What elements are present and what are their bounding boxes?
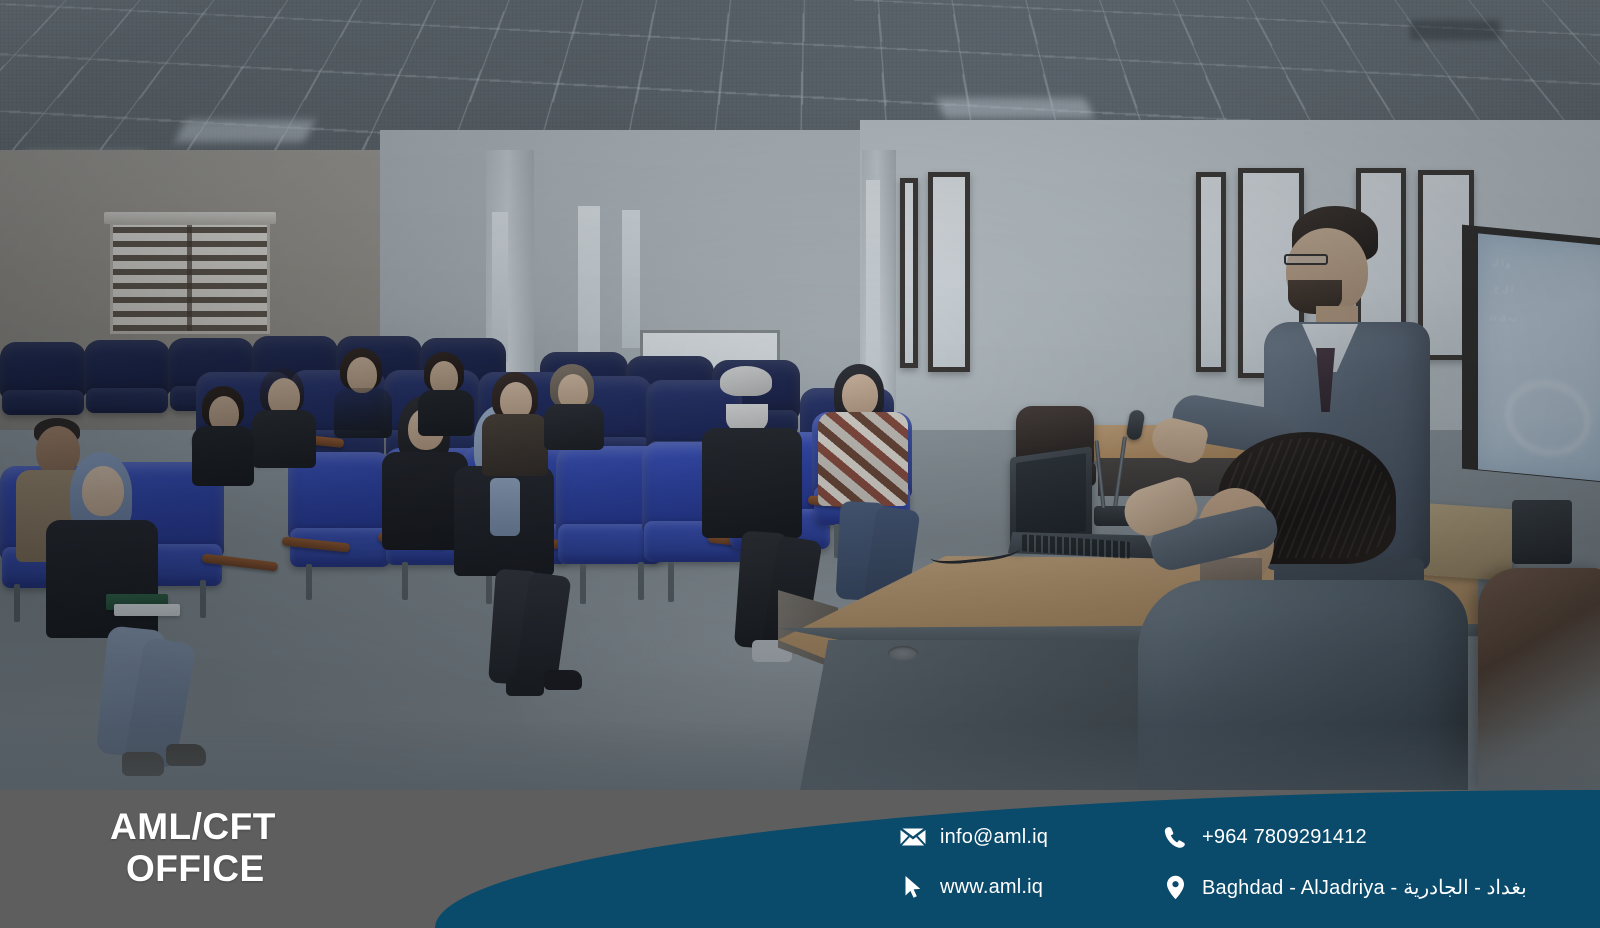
desk-cable-grommet <box>888 646 918 661</box>
brand-line-2: OFFICE <box>0 848 400 890</box>
laptop-screen <box>1016 453 1086 541</box>
torso <box>334 388 392 438</box>
screen-line: ب ي ن <box>1490 311 1517 325</box>
website-value: www.aml.iq <box>940 876 1043 899</box>
auditorium-seat <box>288 452 392 574</box>
blinds-mullion <box>187 225 192 331</box>
cursor-icon <box>900 874 926 900</box>
scarf-front <box>490 478 520 536</box>
address-value: Baghdad - AlJadriya - بغداد - الجادرية <box>1202 875 1527 900</box>
torso <box>702 428 802 538</box>
phone-value: +964 7809291412 <box>1202 826 1367 849</box>
footer-bar: AML/CFT OFFICE info@aml.iq <box>0 790 1600 928</box>
poster-root: و ا ل ا ل ع ب ي ن <box>0 0 1600 928</box>
window <box>900 178 918 368</box>
ceiling-light <box>936 98 1094 118</box>
torso <box>192 426 254 486</box>
torso <box>46 520 158 638</box>
shoe <box>122 752 164 776</box>
ceiling-vent <box>1410 20 1500 40</box>
contact-list: info@aml.iq +964 7809291412 www.am <box>900 812 1527 912</box>
head <box>36 426 80 476</box>
head <box>82 466 124 516</box>
contact-phone[interactable]: +964 7809291412 <box>1162 824 1527 850</box>
brand-line-1: AML/CFT <box>0 806 400 848</box>
screen-line: ا ل ع <box>1494 283 1513 296</box>
torso-patterned <box>818 412 908 506</box>
torso <box>544 404 604 450</box>
shoe <box>544 670 582 690</box>
glasses-icon <box>1284 254 1328 265</box>
papers <box>114 604 180 616</box>
ceiling-light <box>175 120 316 142</box>
cardboard-box <box>1420 503 1512 581</box>
head <box>842 374 878 416</box>
shoe <box>506 676 544 696</box>
phone-icon <box>1162 824 1188 850</box>
wall-slot <box>578 206 600 356</box>
wall-slot <box>866 180 880 380</box>
shoe <box>166 744 206 766</box>
email-value: info@aml.iq <box>940 826 1048 849</box>
window <box>928 172 970 372</box>
brand-block: AML/CFT OFFICE <box>0 806 400 890</box>
torso <box>1138 580 1468 792</box>
contact-website[interactable]: www.aml.iq <box>900 874 1140 900</box>
torso <box>418 390 474 436</box>
speaker-box <box>1512 500 1572 564</box>
torso <box>252 410 316 468</box>
torso <box>482 414 548 476</box>
event-photo: و ا ل ا ل ع ب ي ن <box>0 0 1600 792</box>
envelope-icon <box>900 824 926 850</box>
pin-icon <box>1162 874 1188 900</box>
window-blinds <box>110 222 270 334</box>
auditorium-seat <box>0 342 86 420</box>
wall-slot <box>622 210 640 348</box>
contact-address[interactable]: Baghdad - AlJadriya - بغداد - الجادرية <box>1162 874 1527 900</box>
auditorium-seat <box>84 340 170 418</box>
leather-chair <box>1478 568 1600 792</box>
screen-line: و ا ل <box>1492 257 1510 270</box>
window <box>1196 172 1226 372</box>
contact-email[interactable]: info@aml.iq <box>900 824 1140 850</box>
